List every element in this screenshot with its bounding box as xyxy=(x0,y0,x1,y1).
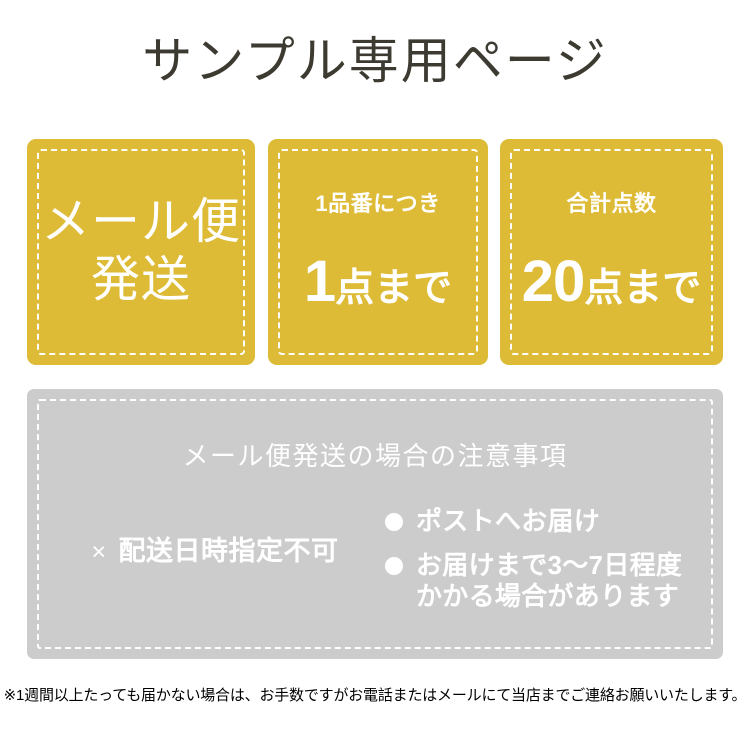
notice-bullet-label: お届けまで3〜7日程度 かかる場合があります xyxy=(416,550,682,613)
total-items-suffix: 点まで xyxy=(584,269,701,308)
feature-box-content: メール便 発送 xyxy=(27,139,255,365)
notice-heading: メール便発送の場合の注意事項 xyxy=(27,436,723,473)
feature-box-total-limit: 合計点数 20 点まで xyxy=(500,139,723,365)
notice-panel: メール便発送の場合の注意事項 ×配送日時指定不可 ポストへお届け お届けまで3〜… xyxy=(27,389,723,659)
notice-bullet-label: ポストへお届け xyxy=(416,506,600,538)
page-title: サンプル専用ページ xyxy=(0,34,750,89)
footer-note: ※1週間以上たっても届かない場合は、お手数ですがお電話またはメールにて当店までご… xyxy=(0,684,750,705)
feature-box-row: メール便 発送 1品番につき 1 点まで 合計点数 20 点まで xyxy=(27,139,723,365)
notice-restriction-label: 配送日時指定不可 xyxy=(119,536,339,566)
feature-box-per-item-limit: 1品番につき 1 点まで xyxy=(268,139,488,365)
feature-box-content: 1品番につき 1 点まで xyxy=(268,139,488,365)
per-item-suffix: 点まで xyxy=(335,269,452,308)
mail-shipping-line-2: 発送 xyxy=(91,252,191,310)
cross-mark-icon: × xyxy=(91,538,106,566)
list-item: ポストへお届け xyxy=(385,506,715,538)
notice-bullet-list: ポストへお届け お届けまで3〜7日程度 かかる場合があります xyxy=(385,506,715,625)
filled-circle-bullet-icon xyxy=(385,557,403,575)
mail-shipping-line-1: メール便 xyxy=(41,194,241,252)
list-item: お届けまで3〜7日程度 かかる場合があります xyxy=(385,550,715,613)
feature-box-mail-shipping: メール便 発送 xyxy=(27,139,255,365)
total-items-number: 20 xyxy=(522,253,585,311)
per-item-label: 1品番につき xyxy=(315,193,440,215)
notice-restriction-item: ×配送日時指定不可 xyxy=(45,529,385,568)
feature-box-content: 合計点数 20 点まで xyxy=(500,139,723,365)
total-items-label: 合計点数 xyxy=(566,193,656,215)
total-items-value: 20 点まで xyxy=(522,253,702,311)
per-item-number: 1 xyxy=(304,253,335,311)
notice-body: ×配送日時指定不可 ポストへお届け お届けまで3〜7日程度 かかる場合があります xyxy=(27,501,723,631)
filled-circle-bullet-icon xyxy=(385,513,403,531)
per-item-value: 1 点まで xyxy=(304,253,452,311)
